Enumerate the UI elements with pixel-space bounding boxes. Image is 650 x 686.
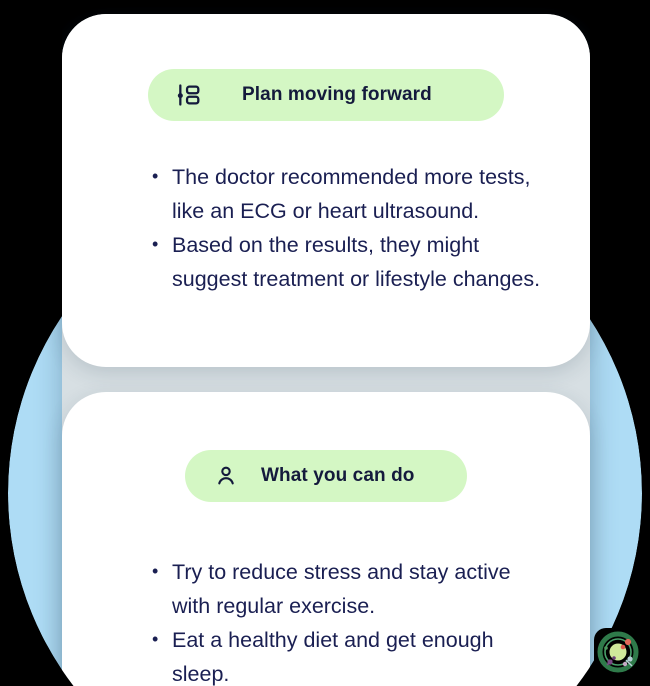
pill-row: What you can do [96,450,556,502]
sliders-list-icon [176,82,202,108]
bullet-list-actions: Try to reduce stress and stay active wit… [152,556,552,686]
card-plan-moving-forward: Plan moving forward The doctor recommend… [62,14,590,367]
pill-row: Plan moving forward [96,69,556,121]
person-icon [213,463,239,489]
list-item: The doctor recommended more tests, like … [152,161,552,228]
list-item: Try to reduce stress and stay active wit… [152,556,552,623]
list-item: Eat a healthy diet and get enough sleep. [152,624,552,686]
bullet-list-plan: The doctor recommended more tests, like … [152,161,552,296]
pill-plan-moving-forward[interactable]: Plan moving forward [148,69,504,121]
pill-label: Plan moving forward [242,84,432,106]
app-logo-badge[interactable] [594,628,642,676]
screenshot-stage: Plan moving forward The doctor recommend… [0,0,650,686]
card-what-you-can-do: What you can do Try to reduce stress and… [62,392,590,686]
pill-what-you-can-do[interactable]: What you can do [185,450,467,502]
list-item: Based on the results, they might suggest… [152,229,552,296]
pill-label: What you can do [261,465,415,487]
